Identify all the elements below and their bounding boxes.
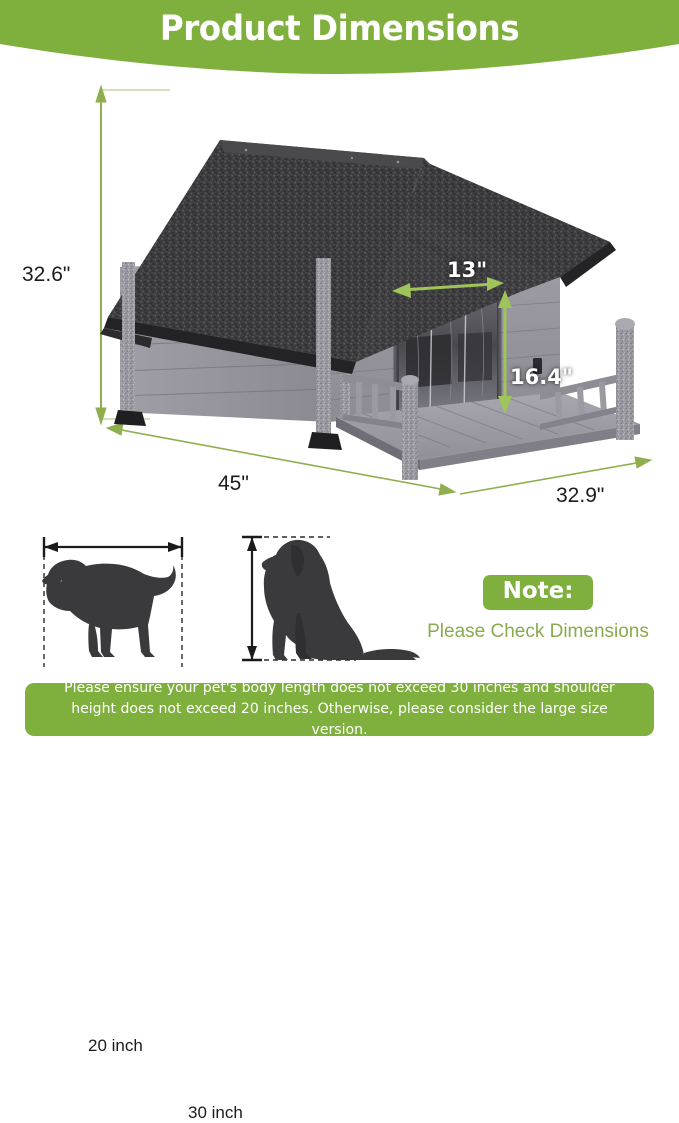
label-dog-length: 20 inch	[88, 1036, 143, 1056]
footer-banner: Please ensure your pet's body length doe…	[25, 683, 654, 736]
note-text: Please Check Dimensions	[414, 621, 662, 643]
label-overall-height: 32.6"	[22, 263, 70, 287]
label-dog-height: 30 inch	[188, 1103, 243, 1123]
product-illustration: 13" 16.4"	[0, 62, 679, 517]
standing-dog-diagram	[42, 537, 182, 667]
foot-center	[308, 432, 342, 450]
page-title: Product Dimensions	[24, 9, 655, 49]
label-door-height: 16.4"	[510, 365, 573, 389]
note-badge: Note:	[483, 575, 594, 610]
porch-post-right	[615, 318, 635, 440]
note-block: Note: Please Check Dimensions	[414, 575, 662, 643]
porch-post-front-left	[401, 375, 419, 480]
sitting-dog-diagram	[242, 537, 420, 660]
footer-text: Please ensure your pet's body length doe…	[34, 678, 644, 741]
label-overall-depth: 32.9"	[556, 484, 604, 508]
label-overall-width: 45"	[218, 472, 249, 496]
standing-dog-silhouette	[46, 560, 176, 657]
foot-left	[114, 410, 146, 426]
dimension-arrow-height	[96, 86, 106, 424]
sitting-dog-silhouette	[264, 540, 416, 660]
label-door-width: 13"	[447, 258, 487, 282]
